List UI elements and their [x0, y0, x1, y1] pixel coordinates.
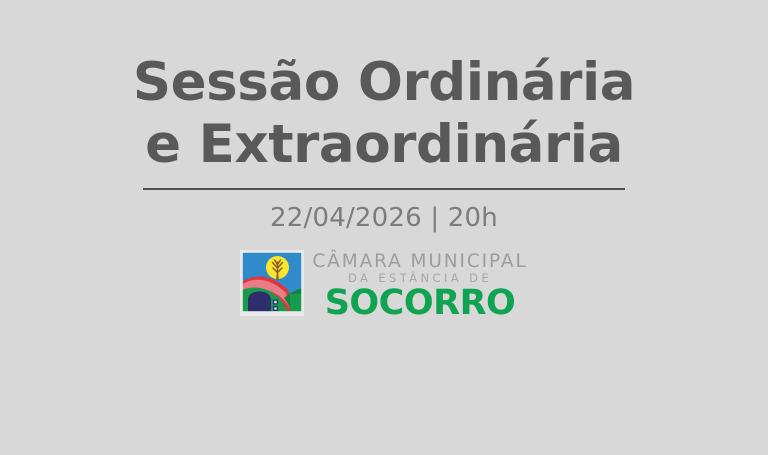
session-datetime-text: 22/04/2026 | 20h [270, 203, 498, 233]
page-title: Sessão Ordinária e Extraordinária [0, 52, 768, 176]
title-line-1: Sessão Ordinária [0, 52, 768, 114]
logo-line-socorro: SOCORRO [325, 285, 516, 321]
camara-municipal-logo: CÂMARA MUNICIPAL DA ESTÂNCIA DE SOCORRO [0, 250, 768, 321]
divider-container [0, 188, 768, 190]
logo-line-camara-municipal: CÂMARA MUNICIPAL [312, 251, 527, 272]
logo-wordmark: CÂMARA MUNICIPAL DA ESTÂNCIA DE SOCORRO [312, 250, 527, 321]
logo-inner: CÂMARA MUNICIPAL DA ESTÂNCIA DE SOCORRO [240, 250, 527, 321]
title-line-2: e Extraordinária [0, 114, 768, 176]
socorro-coat-of-arms-icon [240, 250, 304, 316]
horizontal-divider [143, 188, 625, 190]
session-datetime: 22/04/2026 | 20h [0, 202, 768, 234]
session-announcement-banner: Sessão Ordinária e Extraordinária 22/04/… [0, 0, 768, 455]
